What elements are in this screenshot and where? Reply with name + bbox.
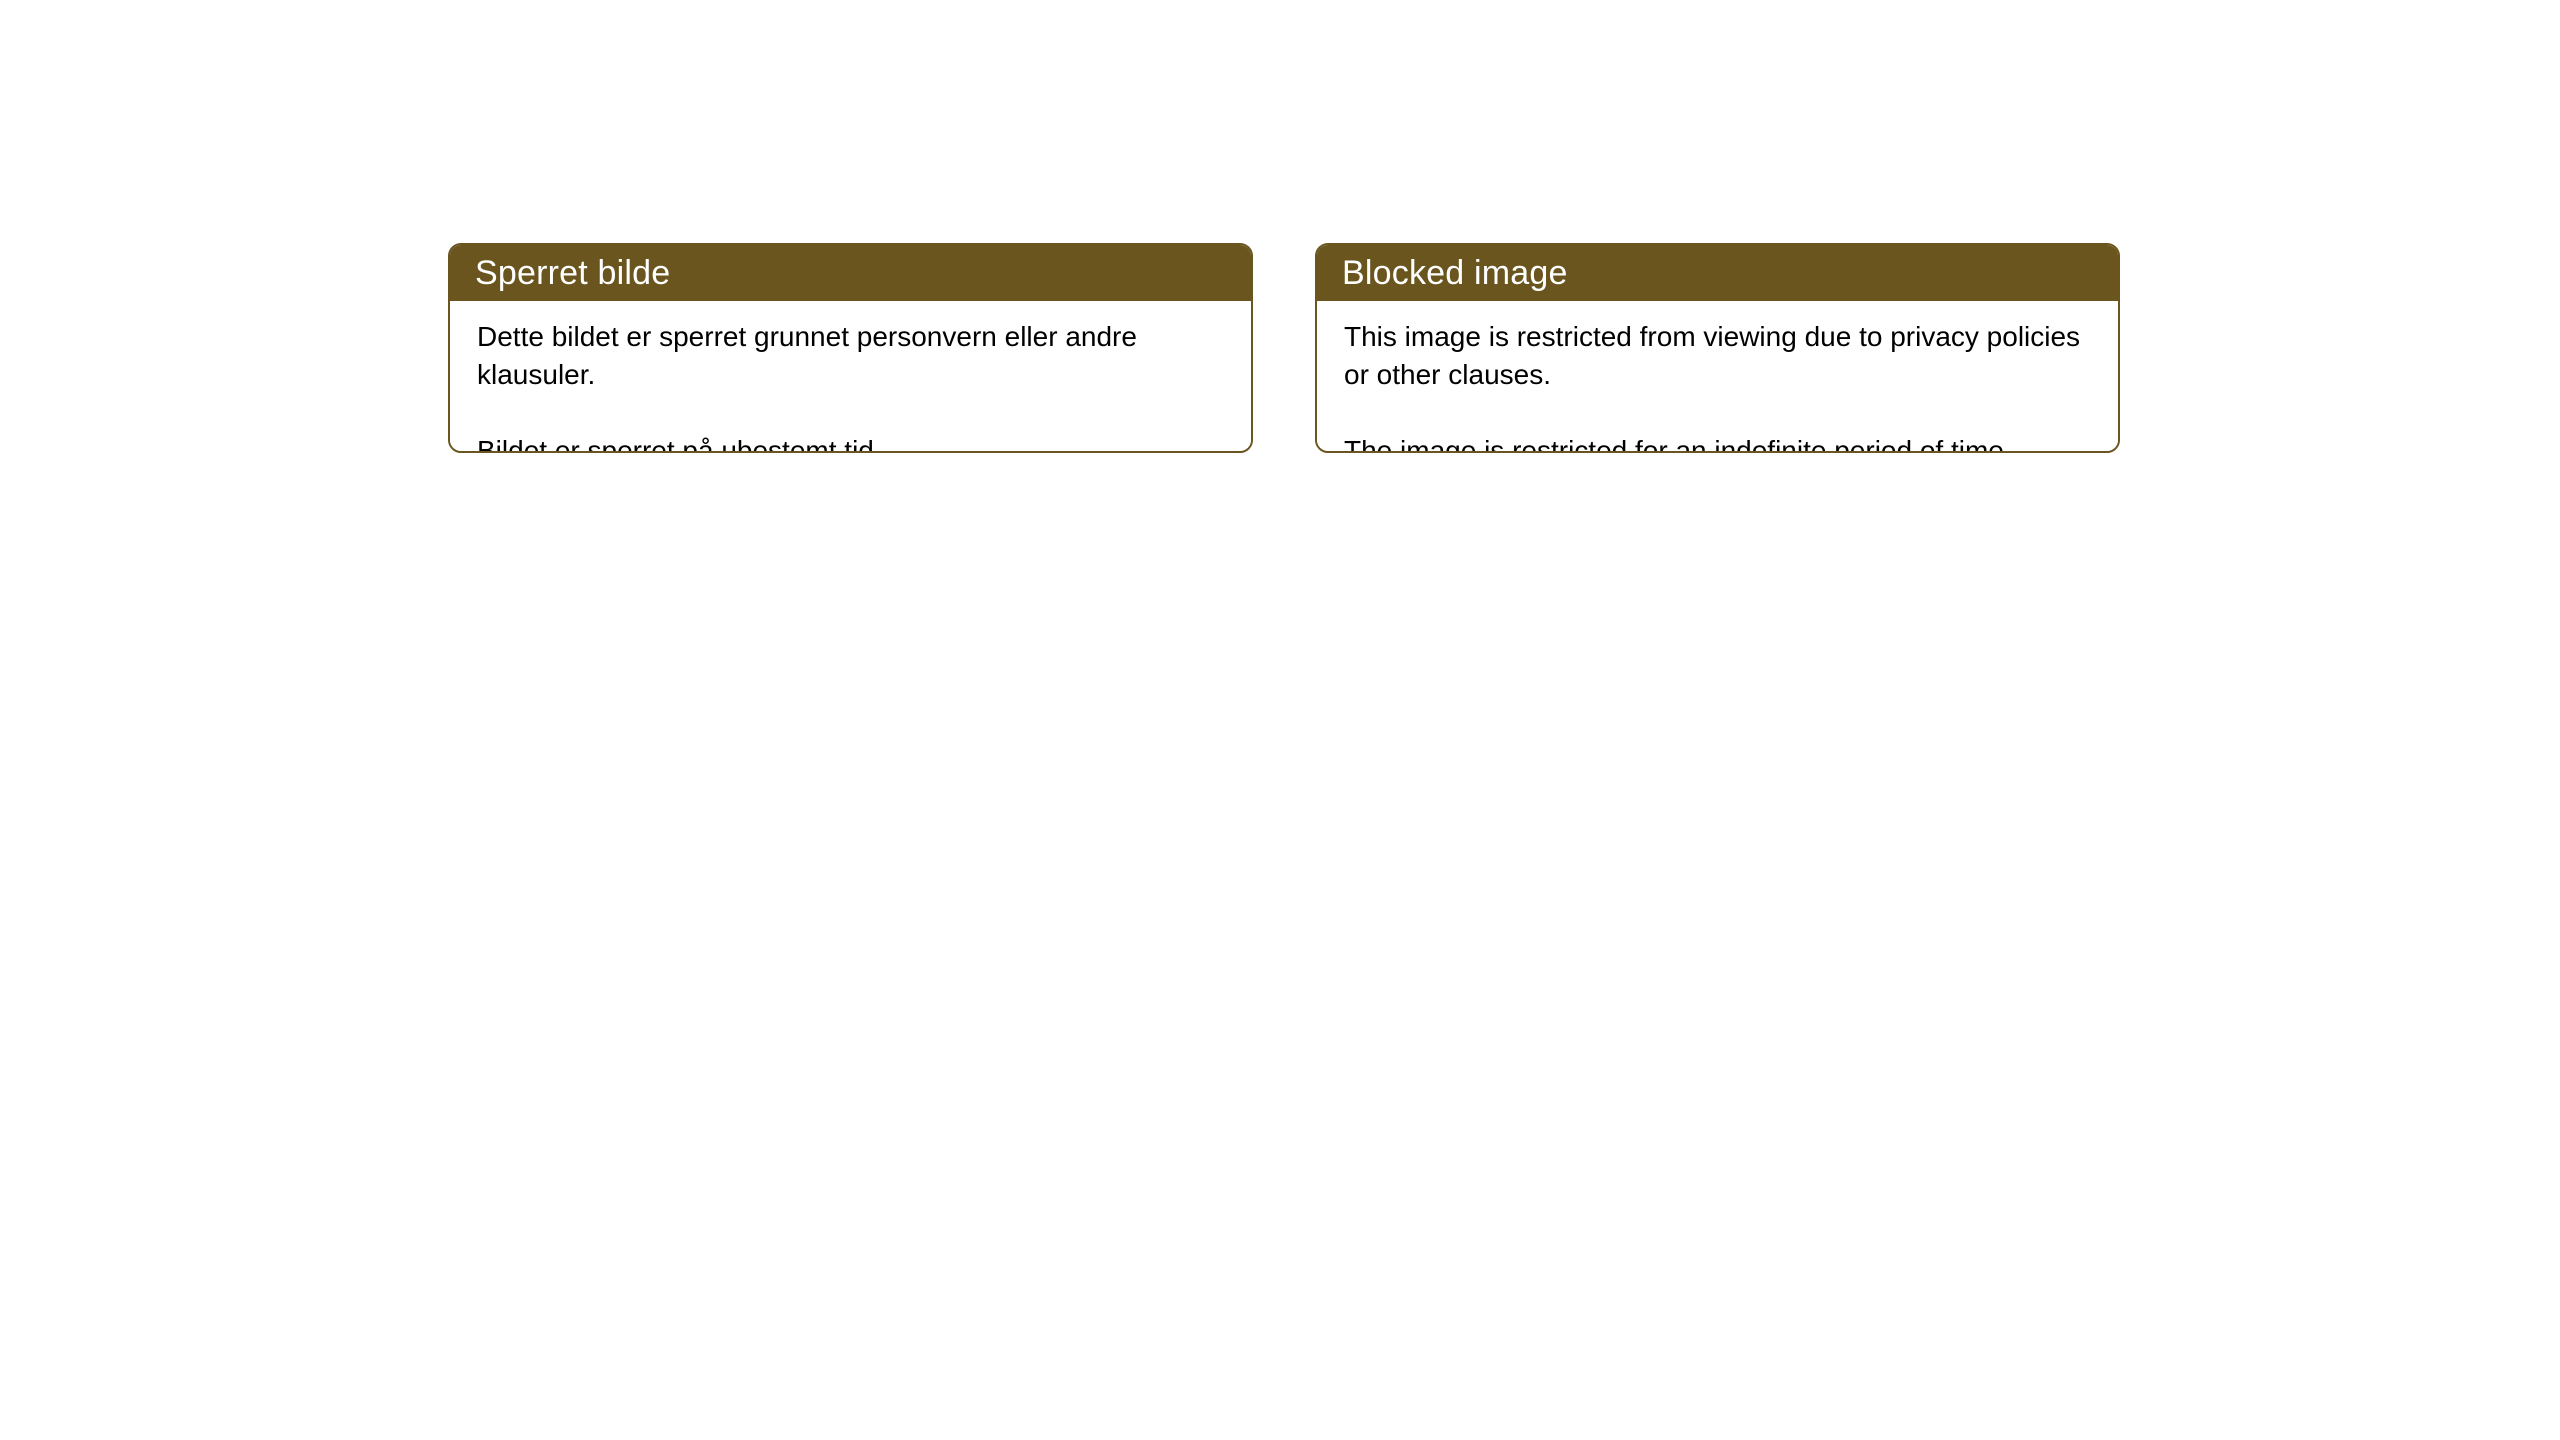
page-root: Sperret bilde Dette bildet er sperret gr… [0, 0, 2560, 1440]
card-paragraph-en-1: This image is restricted from viewing du… [1344, 318, 2096, 394]
notice-card-row: Sperret bilde Dette bildet er sperret gr… [448, 243, 2120, 453]
card-header-no: Sperret bilde [450, 245, 1251, 301]
card-header-en: Blocked image [1317, 245, 2118, 301]
card-title-no: Sperret bilde [475, 253, 670, 293]
card-body-en: This image is restricted from viewing du… [1317, 301, 2118, 453]
blocked-image-card-en: Blocked image This image is restricted f… [1315, 243, 2120, 453]
card-body-no: Dette bildet er sperret grunnet personve… [450, 301, 1251, 453]
card-title-en: Blocked image [1342, 253, 1568, 293]
blocked-image-card-no: Sperret bilde Dette bildet er sperret gr… [448, 243, 1253, 453]
card-paragraph-no-2: Bildet er sperret på ubestemt tid. [477, 432, 1229, 453]
card-paragraph-no-1: Dette bildet er sperret grunnet personve… [477, 318, 1229, 394]
card-paragraph-en-2: The image is restricted for an indefinit… [1344, 432, 2096, 453]
